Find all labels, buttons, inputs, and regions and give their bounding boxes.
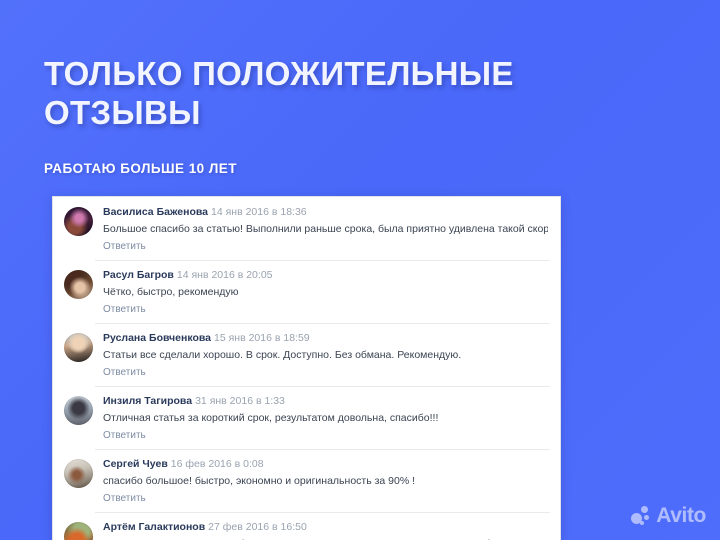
review-text: Большое спасибо за статью! Выполнили ран… — [103, 222, 548, 236]
review-content: Руслана Бовченкова15 янв 2016 в 18:59 Ст… — [103, 331, 548, 379]
review-header: Инзиля Тагирова31 янв 2016 в 1:33 — [103, 394, 548, 408]
review-author[interactable]: Инзиля Тагирова — [103, 395, 192, 407]
review-author[interactable]: Артём Галактионов — [103, 521, 205, 533]
review-text: Чётко, быстро, рекомендую — [103, 285, 548, 299]
review-content: Расул Багров14 янв 2016 в 20:05 Чётко, б… — [103, 268, 548, 316]
review-date: 14 янв 2016 в 18:36 — [211, 206, 307, 218]
review-text: Статьи все сделали хорошо. В срок. Досту… — [103, 348, 548, 362]
avatar — [64, 396, 93, 425]
review-header: Василиса Баженова14 янв 2016 в 18:36 — [103, 205, 548, 219]
review-author[interactable]: Руслана Бовченкова — [103, 332, 211, 344]
avito-brand-text: Avito — [656, 505, 706, 526]
reviews-card: Василиса Баженова14 янв 2016 в 18:36 Бол… — [52, 196, 561, 540]
slide-canvas: ТОЛЬКО ПОЛОЖИТЕЛЬНЫЕ ОТЗЫВЫ РАБОТАЮ БОЛЬ… — [0, 0, 720, 540]
review-header: Руслана Бовченкова15 янв 2016 в 18:59 — [103, 331, 548, 345]
avito-watermark: Avito — [631, 505, 706, 526]
reply-link[interactable]: Ответить — [103, 492, 548, 505]
reviews-list: Василиса Баженова14 янв 2016 в 18:36 Бол… — [53, 197, 560, 540]
review-header: Расул Багров14 янв 2016 в 20:05 — [103, 268, 548, 282]
review-item: Артём Галактионов27 фев 2016 в 16:50 Зак… — [53, 512, 560, 540]
review-item: Руслана Бовченкова15 янв 2016 в 18:59 Ст… — [53, 323, 560, 386]
avito-dots-logo-icon — [631, 506, 651, 526]
review-text: спасибо большое! быстро, экономно и ориг… — [103, 474, 548, 488]
avatar — [64, 522, 93, 540]
avatar — [64, 207, 93, 236]
avatar — [64, 459, 93, 488]
review-date: 27 фев 2016 в 16:50 — [208, 521, 307, 533]
review-author[interactable]: Василиса Баженова — [103, 206, 208, 218]
review-date: 16 фев 2016 в 0:08 — [171, 458, 264, 470]
review-content: Артём Галактионов27 фев 2016 в 16:50 Зак… — [103, 520, 548, 540]
reply-link[interactable]: Ответить — [103, 303, 548, 316]
avatar — [64, 333, 93, 362]
review-item: Сергей Чуев16 фев 2016 в 0:08 спасибо бо… — [53, 449, 560, 512]
page-title: ТОЛЬКО ПОЛОЖИТЕЛЬНЫЕ ОТЗЫВЫ — [44, 55, 574, 133]
reply-link[interactable]: Ответить — [103, 429, 548, 442]
review-date: 15 янв 2016 в 18:59 — [214, 332, 310, 344]
review-content: Василиса Баженова14 янв 2016 в 18:36 Бол… — [103, 205, 548, 253]
hero-subtitle: РАБОТАЮ БОЛЬШЕ 10 ЛЕТ — [44, 161, 237, 176]
review-header: Артём Галактионов27 фев 2016 в 16:50 — [103, 520, 548, 534]
review-author[interactable]: Расул Багров — [103, 269, 174, 281]
review-content: Сергей Чуев16 фев 2016 в 0:08 спасибо бо… — [103, 457, 548, 505]
review-date: 14 янв 2016 в 20:05 — [177, 269, 273, 281]
review-author[interactable]: Сергей Чуев — [103, 458, 168, 470]
review-content: Инзиля Тагирова31 янв 2016 в 1:33 Отличн… — [103, 394, 548, 442]
review-date: 31 янв 2016 в 1:33 — [195, 395, 285, 407]
review-item: Василиса Баженова14 янв 2016 в 18:36 Бол… — [53, 197, 560, 260]
reply-link[interactable]: Ответить — [103, 366, 548, 379]
review-text: Отличная статья за короткий срок, резуль… — [103, 411, 548, 425]
avatar — [64, 270, 93, 299]
review-item: Расул Багров14 янв 2016 в 20:05 Чётко, б… — [53, 260, 560, 323]
review-header: Сергей Чуев16 фев 2016 в 0:08 — [103, 457, 548, 471]
reply-link[interactable]: Ответить — [103, 240, 548, 253]
hero-heading-block: ТОЛЬКО ПОЛОЖИТЕЛЬНЫЕ ОТЗЫВЫ — [44, 55, 574, 133]
review-item: Инзиля Тагирова31 янв 2016 в 1:33 Отличн… — [53, 386, 560, 449]
